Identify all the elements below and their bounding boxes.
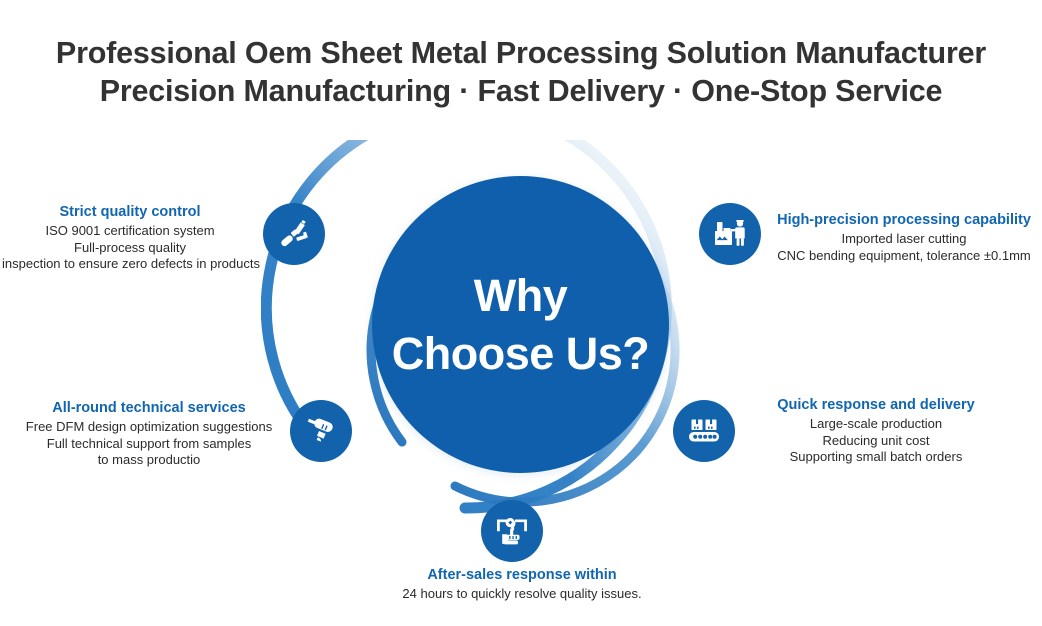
feature-text-strict-quality-control: Strict quality control ISO 9001 certific… [2,203,258,273]
headline-line-2: Precision Manufacturing · Fast Delivery … [0,72,1042,110]
center-line-2: Choose Us? [392,325,650,383]
icon-badge-quick-response-delivery[interactable] [673,400,735,462]
feature-line: Imported laser cutting [770,231,1038,248]
feature-text-quick-response-delivery: Quick response and delivery Large-scale … [752,396,1000,466]
feature-title: After-sales response within [382,566,662,585]
feature-title: All-round technical services [20,399,278,418]
feature-line: Free DFM design optimization suggestions [20,419,278,436]
feature-line: Large-scale production [752,416,1000,433]
feature-line: Reducing unit cost [752,433,1000,450]
feature-line: to mass productio [20,452,278,469]
icon-badge-technical-services[interactable] [290,400,352,462]
icon-badge-after-sales-response[interactable] [481,500,543,562]
center-line-1: Why [474,267,568,325]
center-badge: Why Choose Us? [372,176,669,473]
icon-badge-high-precision-processing[interactable] [699,203,761,265]
feature-title: High-precision processing capability [770,211,1038,230]
feature-line: Full technical support from samples [20,436,278,453]
feature-title: Strict quality control [2,203,258,222]
power-drill-icon [302,412,340,450]
feature-title: Quick response and delivery [752,396,1000,415]
feature-text-high-precision-processing: High-precision processing capability Imp… [770,211,1038,264]
feature-line: 24 hours to quickly resolve quality issu… [382,586,662,603]
feature-text-after-sales-response: After-sales response within 24 hours to … [382,566,662,603]
headline-line-1: Professional Oem Sheet Metal Processing … [0,34,1042,72]
wrench-support-icon [493,512,531,550]
conveyor-belt-icon [685,412,723,450]
icon-badge-strict-quality-control[interactable] [263,203,325,265]
feature-text-technical-services: All-round technical services Free DFM de… [20,399,278,469]
feature-line: CNC bending equipment, tolerance ±0.1mm [770,248,1038,265]
machine-operator-icon [711,215,749,253]
infographic-canvas: Professional Oem Sheet Metal Processing … [0,0,1042,626]
inspection-tools-icon [276,216,312,252]
feature-line: inspection to ensure zero defects in pro… [2,256,258,273]
feature-line: Full-process quality [2,240,258,257]
feature-line: ISO 9001 certification system [2,223,258,240]
feature-line: Supporting small batch orders [752,449,1000,466]
page-title: Professional Oem Sheet Metal Processing … [0,34,1042,110]
